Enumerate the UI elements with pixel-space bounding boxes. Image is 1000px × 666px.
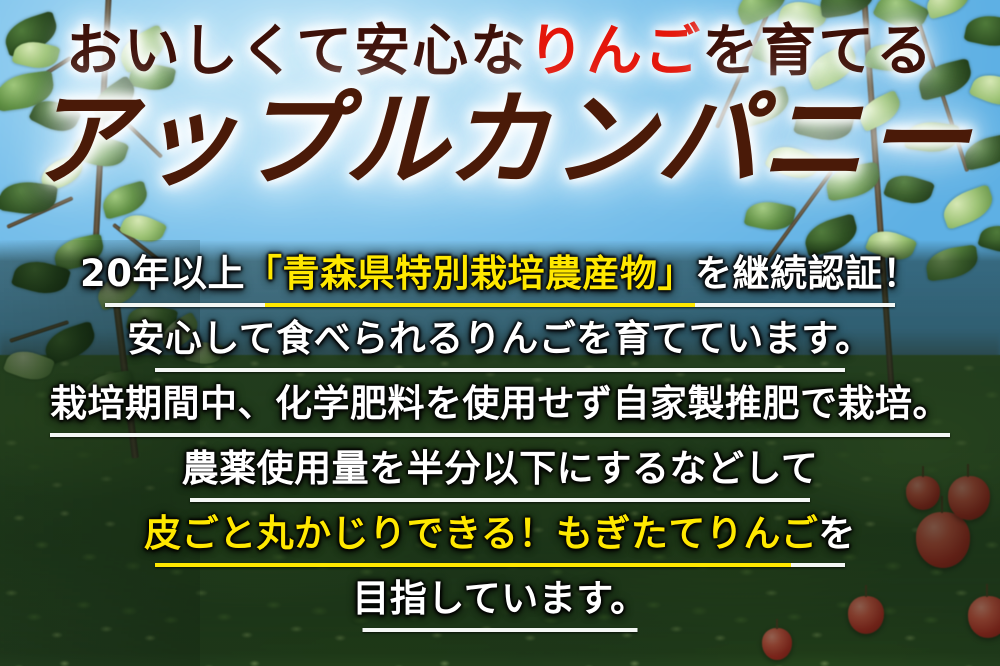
copy-line-5: 皮ごと丸かじりできる！もぎたてりんごを bbox=[0, 515, 1000, 552]
headline-group: おいしくて安心なりんごを育てる アップルカンパニー bbox=[0, 22, 1000, 193]
copy-line-1-part-1: 20年以上 bbox=[80, 252, 245, 295]
copy-line-4-text: 農薬使用量を半分以下にするなどして bbox=[182, 447, 819, 490]
copy-line-1: 20年以上「青森県特別栽培農産物」を継続認証！ bbox=[0, 255, 1000, 292]
copy-line-4-rule bbox=[190, 498, 810, 502]
copy-line-4: 農薬使用量を半分以下にするなどして bbox=[0, 450, 1000, 487]
copy-line-5-highlight: 皮ごと丸かじりできる！もぎたてりんご bbox=[144, 512, 818, 555]
copy-line-2-text: 安心して食べられるりんごを育てています。 bbox=[127, 317, 872, 360]
kicker-tagline: おいしくて安心なりんごを育てる bbox=[0, 22, 1000, 81]
copy-line-6-text: 目指しています。 bbox=[352, 577, 647, 620]
copy-line-1-rule bbox=[105, 303, 895, 307]
copy-line-1-part-3: を継続認証！ bbox=[695, 252, 920, 295]
copy-line-1-highlight: 「青森県特別栽培農産物」 bbox=[245, 252, 695, 295]
copy-line-2: 安心して食べられるりんごを育てています。 bbox=[0, 320, 1000, 357]
copy-line-5-part-2: を bbox=[818, 512, 856, 555]
kicker-part-1: おいしくて安心な bbox=[66, 18, 528, 84]
kicker-part-3: を育てる bbox=[702, 18, 934, 84]
kicker-part-highlight: りんご bbox=[528, 18, 702, 84]
copy-line-6: 目指しています。 bbox=[0, 580, 1000, 617]
company-logotype: アップルカンパニー bbox=[0, 87, 1000, 193]
copy-line-3-rule bbox=[50, 433, 950, 437]
copy-line-6-rule bbox=[363, 628, 638, 632]
copy-block: 20年以上「青森県特別栽培農産物」を継続認証！ 安心して食べられるりんごを育てて… bbox=[0, 255, 1000, 645]
promo-banner: おいしくて安心なりんごを育てる アップルカンパニー 20年以上「青森県特別栽培農… bbox=[0, 0, 1000, 666]
copy-line-5-rule bbox=[155, 563, 845, 567]
copy-line-2-rule bbox=[155, 368, 845, 372]
copy-line-3: 栽培期間中、化学肥料を使用せず自家製推肥で栽培。 bbox=[0, 385, 1000, 422]
copy-line-3-text: 栽培期間中、化学肥料を使用せず自家製推肥で栽培。 bbox=[50, 382, 950, 425]
